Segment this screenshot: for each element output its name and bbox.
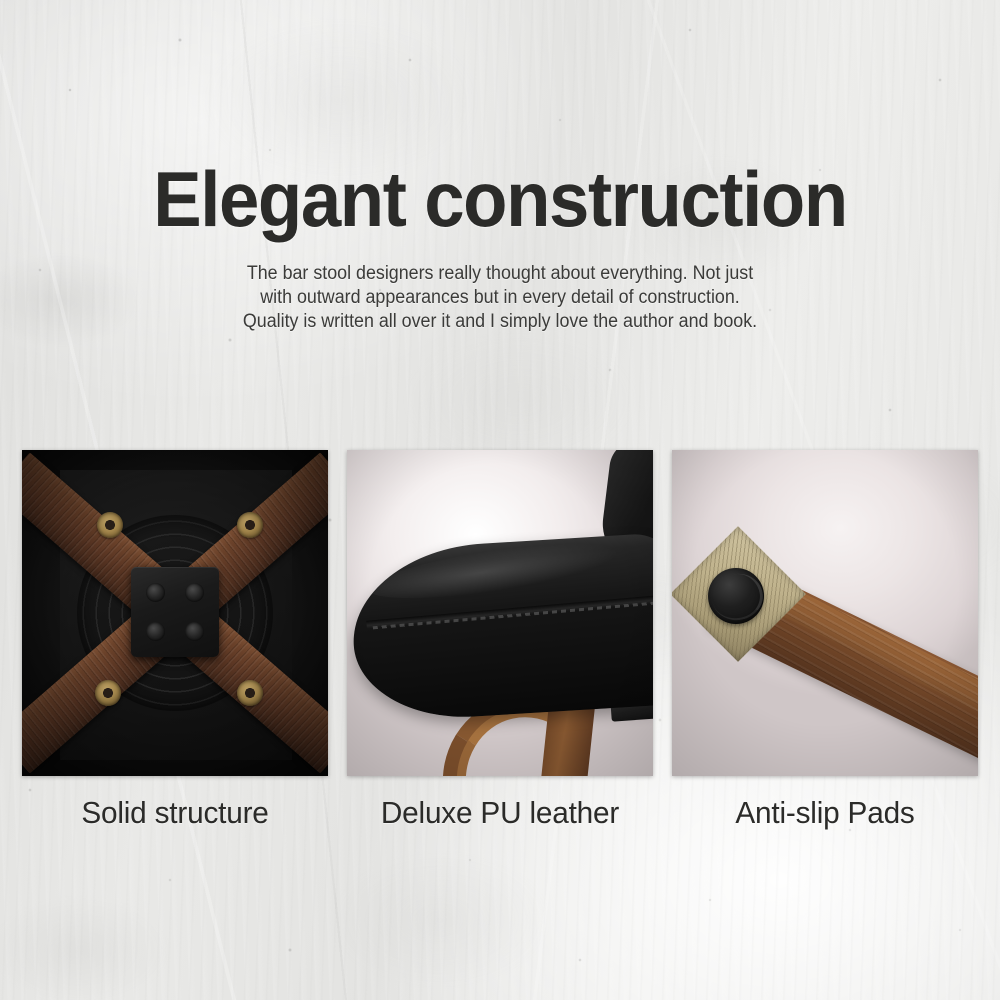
- feature-caption-row: Solid structure Deluxe PU leather Anti-s…: [22, 795, 978, 845]
- caption-solid-structure: Solid structure: [28, 795, 322, 845]
- page-title: Elegant construction: [35, 160, 965, 238]
- product-feature-banner: Elegant construction The bar stool desig…: [0, 0, 1000, 1000]
- feature-image-pu-leather: [347, 450, 653, 776]
- page-subcopy: The bar stool designers really thought a…: [237, 262, 763, 334]
- caption-anti-slip-pads: Anti-slip Pads: [678, 795, 972, 845]
- panel-vignette: [22, 450, 328, 776]
- panel-vignette: [347, 450, 653, 776]
- feature-image-solid-structure: [22, 450, 328, 776]
- panel-vignette: [672, 450, 978, 776]
- feature-image-row: [22, 450, 978, 776]
- caption-pu-leather: Deluxe PU leather: [353, 795, 647, 845]
- feature-image-anti-slip-pads: [672, 450, 978, 776]
